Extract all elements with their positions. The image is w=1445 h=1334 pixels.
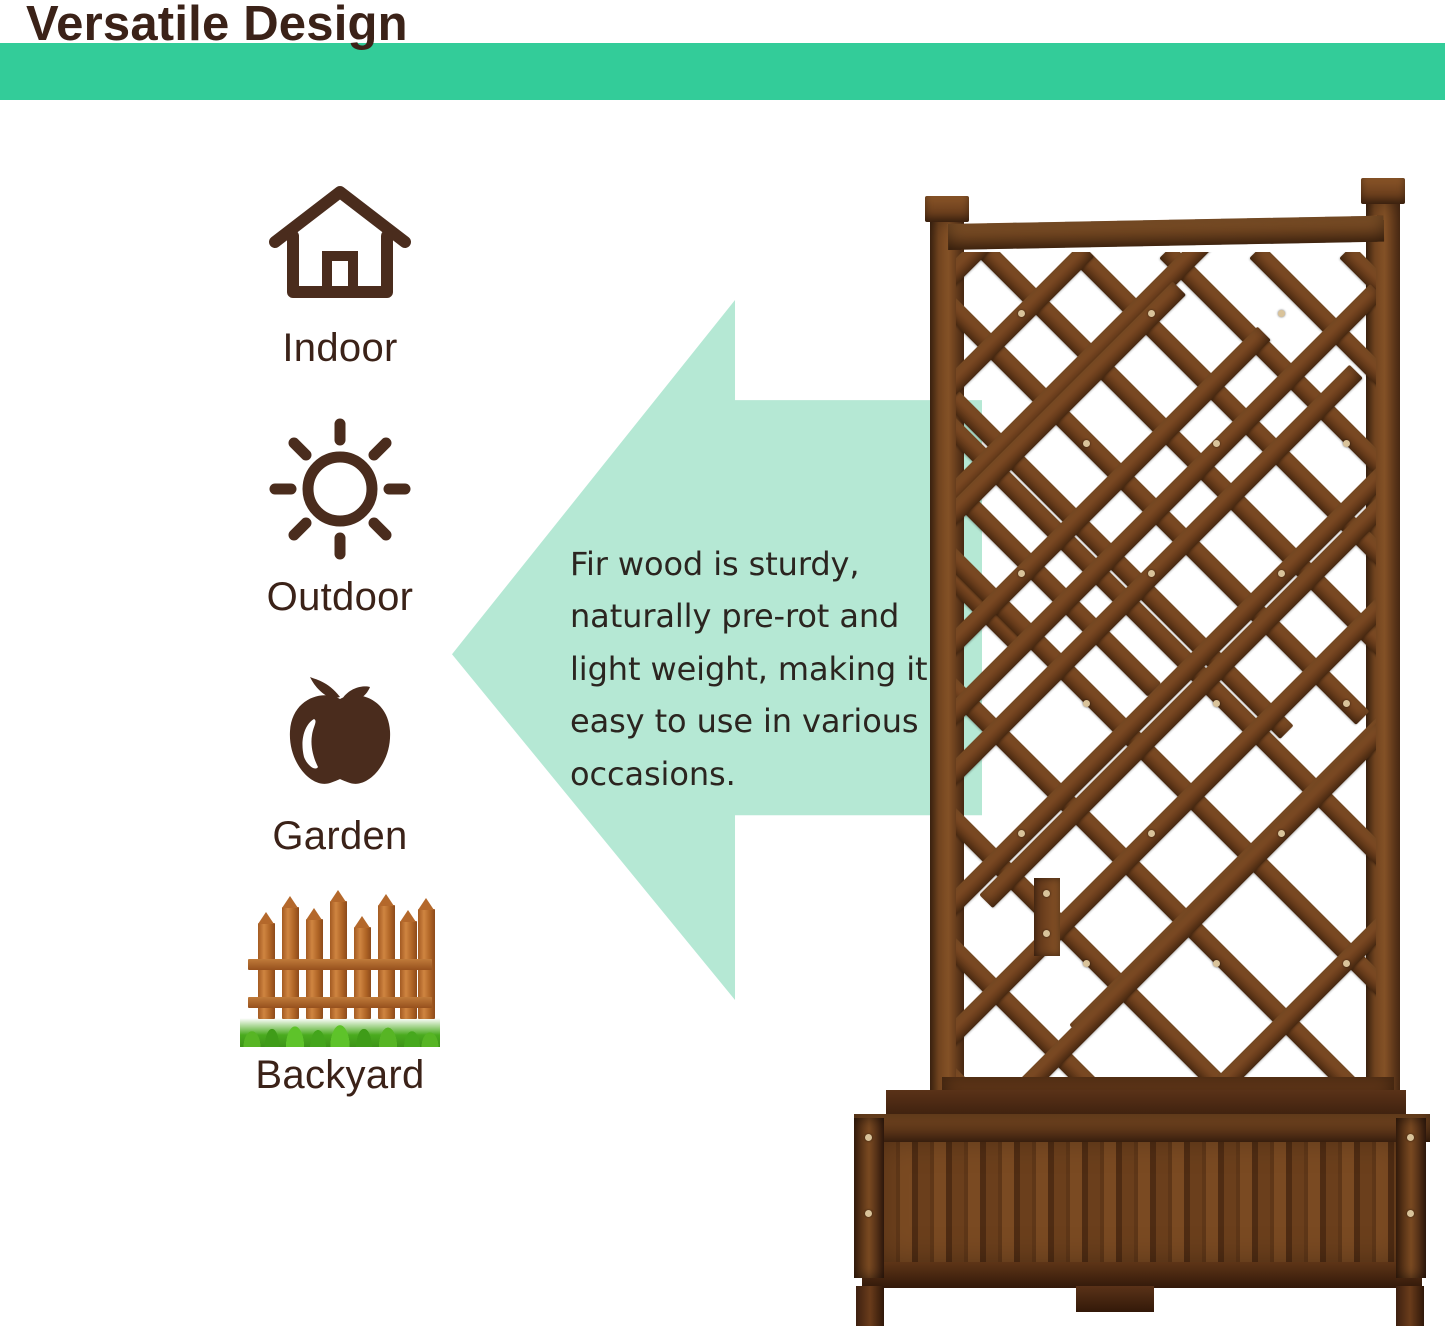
post-cap-right [1361,178,1405,204]
infographic-canvas: Versatile Design Indoor [0,0,1445,1334]
feature-label: Indoor [282,326,397,371]
sun-icon [265,409,415,569]
page-title: Versatile Design [26,0,408,52]
planter-leg-left [856,1286,884,1326]
mounting-bracket [1034,878,1060,956]
planter-box [840,1100,1440,1330]
lattice-grid [956,252,1376,1108]
feature-label: Backyard [255,1053,424,1098]
planter-bottom-rail [862,1262,1422,1288]
apple-icon [270,658,410,808]
planter-corner-left [854,1118,884,1278]
trellis-panel [930,178,1400,1103]
feature-label: Outdoor [267,575,414,620]
product-image [820,160,1440,1334]
planter-leg-right [1396,1286,1424,1326]
planter-center-foot [1076,1286,1154,1312]
planter-top-rail [854,1114,1430,1142]
post-cap-left [925,196,969,222]
planter-corner-right [1396,1118,1426,1278]
feature-label: Garden [272,814,407,859]
trellis-top-rail [948,216,1384,250]
house-icon [265,170,415,320]
planter-front-slats [862,1126,1422,1274]
fence-grass-icon [240,897,440,1047]
